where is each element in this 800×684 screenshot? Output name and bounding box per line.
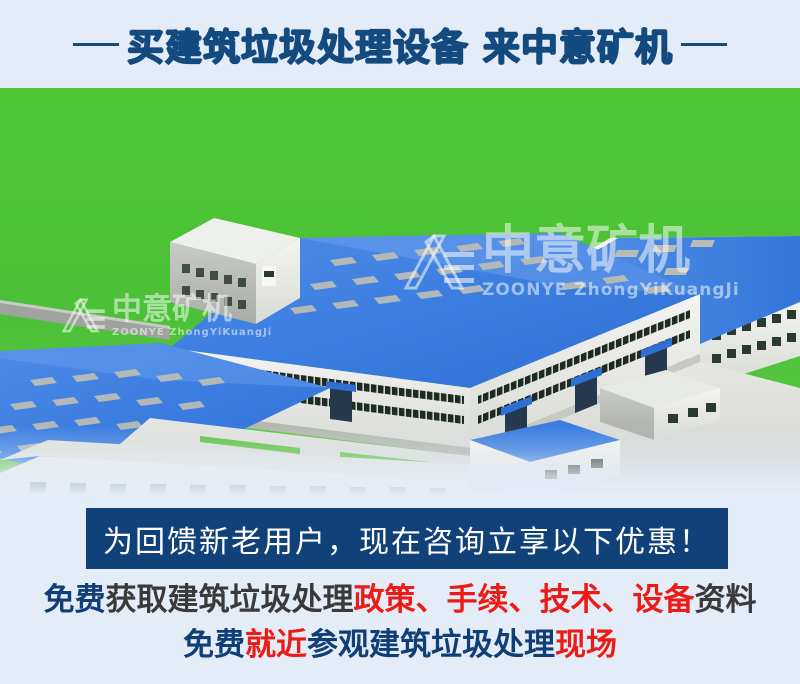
offer-segment-red: 现场 [555,627,617,663]
offer-segment-blue: 免费 [183,627,245,663]
promo-banner-text: 为回馈新老用户，现在咨询立享以下优惠！ [103,517,711,561]
offer-segment-blue: 免费 [44,582,106,618]
promo-banner: 为回馈新老用户，现在咨询立享以下优惠！ [86,508,728,569]
promo-poster: 买建筑垃圾处理设备 来中意矿机 [0,0,800,684]
header-bar: 买建筑垃圾处理设备 来中意矿机 [0,0,800,88]
factory-illustration [0,88,800,496]
offer-segment-red: 政策、手续、技术、设备 [354,582,695,618]
offer-line-2: 免费就近参观建筑垃圾处理现场 [0,623,800,668]
offer-line-1: 免费获取建筑垃圾处理政策、手续、技术、设备资料 [0,578,800,623]
offer-segment-dark: 资料 [695,582,757,618]
offer-segment-dark: 获取建筑垃圾处理 [106,582,354,618]
offer-segment-blue: 参观建筑垃圾处理 [307,627,555,663]
header-rule-left-icon [73,43,119,46]
offer-list: 免费获取建筑垃圾处理政策、手续、技术、设备资料 免费就近参观建筑垃圾处理现场 [0,578,800,668]
header-rule-right-icon [681,43,727,46]
offer-segment-red: 就近 [245,627,307,663]
page-title: 买建筑垃圾处理设备 来中意矿机 [127,17,673,71]
factory-aerial-photo [0,88,800,496]
